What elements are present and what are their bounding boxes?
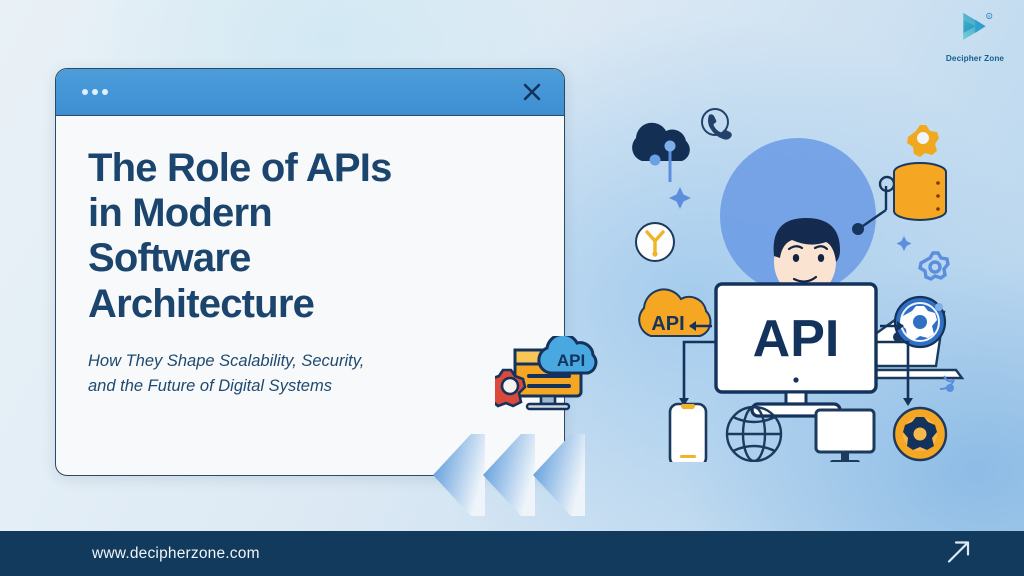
gear-circle-icon	[894, 408, 946, 460]
smartphone-icon	[670, 404, 706, 462]
plus-icon	[897, 236, 912, 251]
page-title: The Role of APIs in Modern Software Arch…	[88, 146, 530, 327]
window-dots-icon	[82, 89, 108, 95]
footer-bar: www.decipherzone.com	[0, 531, 1024, 576]
decipher-zone-logo-icon: R	[953, 10, 997, 47]
database-icon	[894, 163, 946, 220]
central-api-monitor: API	[716, 284, 876, 416]
api-settings-badge-icon: API	[495, 336, 605, 421]
gear-badge-icon	[895, 297, 945, 347]
chevron-decoration	[425, 428, 585, 523]
chevron-1	[433, 434, 485, 516]
monitor-icon	[816, 410, 874, 462]
logo-wordmark: Decipher Zone	[938, 54, 1012, 63]
website-url[interactable]: www.decipherzone.com	[92, 545, 260, 563]
central-api-label: API	[753, 310, 840, 368]
page-subtitle: How They Shape Scalability, Security, an…	[88, 349, 530, 399]
gear-icon	[907, 125, 939, 157]
chevron-2	[483, 434, 535, 516]
cloud-icon	[632, 123, 690, 182]
gear-outline-icon	[920, 253, 948, 279]
chevron-3	[533, 434, 585, 516]
network-node-icon	[636, 223, 674, 261]
headline-card: The Role of APIs in Modern Software Arch…	[55, 68, 565, 476]
api-badge-label: API	[557, 351, 585, 370]
api-cloud-label: API	[651, 313, 684, 335]
sparkle-icon	[669, 187, 691, 209]
poster-canvas: R Decipher Zone	[0, 0, 1024, 576]
close-icon[interactable]	[522, 82, 542, 102]
card-body: The Role of APIs in Modern Software Arch…	[56, 116, 564, 398]
api-cloud-icon: API	[639, 289, 710, 336]
arrow-up-right-icon[interactable]	[944, 536, 974, 571]
phone-call-icon	[702, 109, 732, 140]
card-titlebar	[56, 69, 564, 116]
brand-logo[interactable]: R Decipher Zone	[938, 10, 1012, 63]
api-architecture-illustration: API	[598, 86, 1024, 462]
